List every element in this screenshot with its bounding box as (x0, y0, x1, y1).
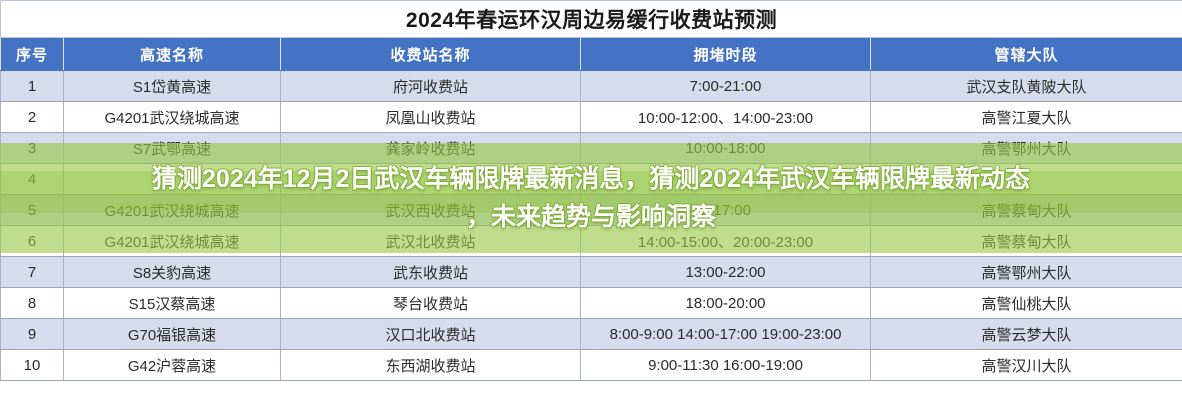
cell-index: 9 (1, 319, 64, 350)
cell-road: G4201武汉绕城高速 (64, 102, 281, 133)
cell-congestion-time: 8:00-9:00 14:00-17:00 19:00-23:00 (581, 319, 871, 350)
table-row: 2 G4201武汉绕城高速 凤凰山收费站 10:00-12:00、14:00-2… (1, 102, 1182, 133)
table-row: 10 G42沪蓉高速 东西湖收费站 9:00-11:30 16:00-19:00… (1, 350, 1182, 381)
cell-congestion-time: 18:00-20:00 (581, 288, 871, 319)
table-row: 9 G70福银高速 汉口北收费站 8:00-9:00 14:00-17:00 1… (1, 319, 1182, 350)
cell-congestion-time: 14:00-15:00、20:00-23:00 (581, 226, 871, 257)
cell-toll-station (281, 164, 581, 195)
cell-index: 2 (1, 102, 64, 133)
cell-unit: 高警仙桃大队 (871, 288, 1182, 319)
cell-toll-station: 凤凰山收费站 (281, 102, 581, 133)
cell-unit: 武汉支队黄陂大队 (871, 71, 1182, 102)
cell-unit: 高警云梦大队 (871, 319, 1182, 350)
table-row: 6 G4201武汉绕城高速 武汉北收费站 14:00-15:00、20:00-2… (1, 226, 1182, 257)
cell-road: S15汉蔡高速 (64, 288, 281, 319)
table-row: 7 S8关豹高速 武东收费站 13:00-22:00 高警鄂州大队 (1, 257, 1182, 288)
table-body: 1 S1岱黄高速 府河收费站 7:00-21:00 武汉支队黄陂大队 2 G42… (1, 71, 1182, 381)
cell-road: S1岱黄高速 (64, 71, 281, 102)
table-title-row: 2024年春运环汉周边易缓行收费站预测 (1, 1, 1182, 38)
cell-road: G42沪蓉高速 (64, 350, 281, 381)
table-row: 4 (1, 164, 1182, 195)
cell-toll-station: 琴台收费站 (281, 288, 581, 319)
cell-congestion-time: 9:00-11:30 16:00-19:00 (581, 350, 871, 381)
cell-congestion-time (581, 164, 871, 195)
column-header-index: 序号 (1, 38, 64, 71)
cell-toll-station: 武东收费站 (281, 257, 581, 288)
cell-toll-station: 东西湖收费站 (281, 350, 581, 381)
cell-congestion-time: 10:00-12:00、14:00-23:00 (581, 102, 871, 133)
cell-index: 1 (1, 71, 64, 102)
cell-unit: 高警江夏大队 (871, 102, 1182, 133)
toll-station-forecast-table: 2024年春运环汉周边易缓行收费站预测 序号 高速名称 收费站名称 拥堵时段 管… (0, 0, 1182, 381)
column-header-toll-station: 收费站名称 (281, 38, 581, 71)
table-column-header: 序号 高速名称 收费站名称 拥堵时段 管辖大队 (1, 38, 1182, 71)
column-header-unit: 管辖大队 (871, 38, 1182, 71)
column-header-time: 拥堵时段 (581, 38, 871, 71)
cell-congestion-time: 7:00-21:00 (581, 71, 871, 102)
cell-index: 6 (1, 226, 64, 257)
cell-toll-station: 武汉西收费站 (281, 195, 581, 226)
table-row: 1 S1岱黄高速 府河收费站 7:00-21:00 武汉支队黄陂大队 (1, 71, 1182, 102)
cell-unit: 高警蔡甸大队 (871, 195, 1182, 226)
cell-congestion-time: 0-17:00 (581, 195, 871, 226)
cell-index: 5 (1, 195, 64, 226)
table-title: 2024年春运环汉周边易缓行收费站预测 (1, 1, 1182, 38)
cell-congestion-time: 13:00-22:00 (581, 257, 871, 288)
cell-index: 7 (1, 257, 64, 288)
cell-toll-station: 府河收费站 (281, 71, 581, 102)
cell-index: 3 (1, 133, 64, 164)
cell-congestion-time: 10:00-18:00 (581, 133, 871, 164)
table-row: 8 S15汉蔡高速 琴台收费站 18:00-20:00 高警仙桃大队 (1, 288, 1182, 319)
cell-unit: 高警鄂州大队 (871, 257, 1182, 288)
cell-toll-station: 汉口北收费站 (281, 319, 581, 350)
cell-toll-station: 武汉北收费站 (281, 226, 581, 257)
cell-road: S7武鄂高速 (64, 133, 281, 164)
cell-road (64, 164, 281, 195)
cell-unit: 高警蔡甸大队 (871, 226, 1182, 257)
screenshot-root: 2024年春运环汉周边易缓行收费站预测 序号 高速名称 收费站名称 拥堵时段 管… (0, 0, 1182, 400)
table-row: 3 S7武鄂高速 龚家岭收费站 10:00-18:00 高警鄂州大队 (1, 133, 1182, 164)
cell-index: 8 (1, 288, 64, 319)
cell-unit: 高警汉川大队 (871, 350, 1182, 381)
cell-unit: 高警鄂州大队 (871, 133, 1182, 164)
column-header-road: 高速名称 (64, 38, 281, 71)
cell-road: G4201武汉绕城高速 (64, 226, 281, 257)
cell-road: S8关豹高速 (64, 257, 281, 288)
cell-index: 10 (1, 350, 64, 381)
table-row: 5 G4201武汉绕城高速 武汉西收费站 0-17:00 高警蔡甸大队 (1, 195, 1182, 226)
cell-road: G4201武汉绕城高速 (64, 195, 281, 226)
cell-toll-station: 龚家岭收费站 (281, 133, 581, 164)
cell-index: 4 (1, 164, 64, 195)
cell-road: G70福银高速 (64, 319, 281, 350)
cell-unit (871, 164, 1182, 195)
